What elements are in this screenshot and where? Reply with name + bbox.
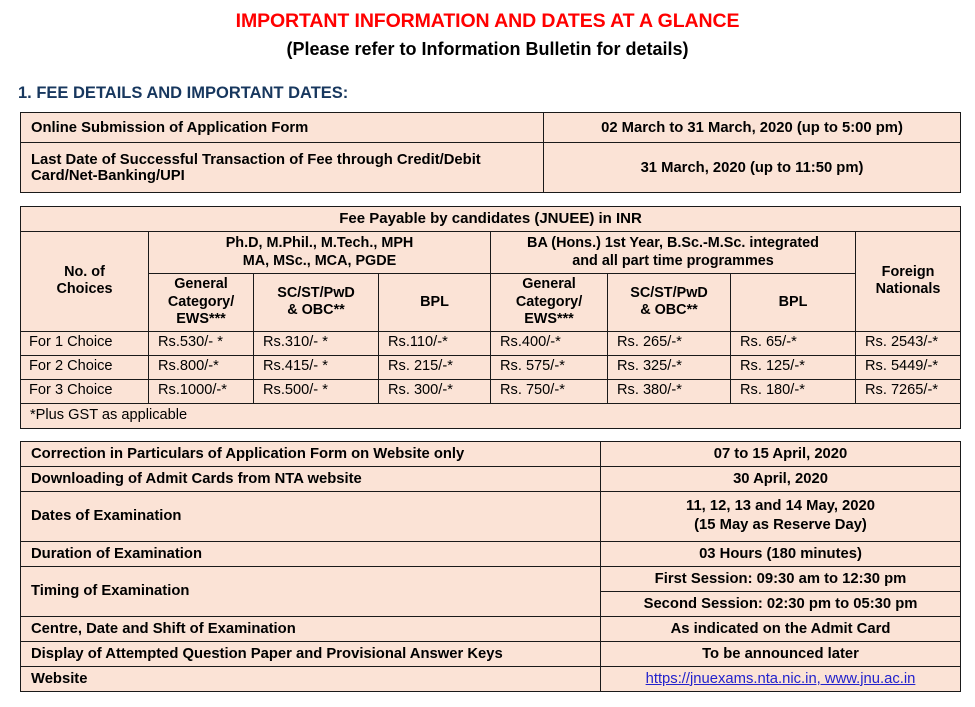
fee-row-choice-1-label: For 1 Choice bbox=[21, 331, 149, 355]
subheader-ug-scst: SC/ST/PwD & OBC** bbox=[608, 274, 731, 332]
fee-row-2-ug-bpl: Rs. 125/-* bbox=[731, 355, 856, 379]
subheader-pg-bpl: BPL bbox=[379, 274, 491, 332]
schedule-value-website: https://jnuexams.nta.nic.in, www.jnu.ac.… bbox=[601, 666, 961, 691]
table-row: Website https://jnuexams.nta.nic.in, www… bbox=[21, 666, 961, 691]
header-foreign-nationals-line2: Nationals bbox=[876, 281, 941, 297]
website-link[interactable]: https://jnuexams.nta.nic.in, www.jnu.ac.… bbox=[646, 671, 916, 687]
fee-row-1-pg-general: Rs.530/- * bbox=[149, 331, 254, 355]
table-row: Downloading of Admit Cards from NTA webs… bbox=[21, 466, 961, 491]
fee-row-1-ug-scst: Rs. 265/-* bbox=[608, 331, 731, 355]
subheader-general-line3: EWS*** bbox=[176, 311, 226, 327]
subheader-scst-line2: & OBC** bbox=[287, 302, 345, 318]
document-page: IMPORTANT INFORMATION AND DATES AT A GLA… bbox=[0, 0, 975, 707]
subheader-general-line1: General bbox=[522, 276, 576, 292]
table-row: Last Date of Successful Transaction of F… bbox=[21, 143, 961, 193]
header-group-pg: Ph.D, M.Phil., M.Tech., MPH MA, MSc., MC… bbox=[149, 232, 491, 274]
schedule-value-exam-dates: 11, 12, 13 and 14 May, 2020 (15 May as R… bbox=[601, 491, 961, 541]
schedule-value-correction: 07 to 15 April, 2020 bbox=[601, 441, 961, 466]
subheader-pg-scst: SC/ST/PwD & OBC** bbox=[254, 274, 379, 332]
fee-row-2-pg-general: Rs.800/-* bbox=[149, 355, 254, 379]
header-no-of-choices-line2: Choices bbox=[57, 281, 113, 297]
schedule-label-exam-dates: Dates of Examination bbox=[21, 491, 601, 541]
page-subtitle: (Please refer to Information Bulletin fo… bbox=[0, 32, 975, 60]
table-row: Display of Attempted Question Paper and … bbox=[21, 641, 961, 666]
table-row: Centre, Date and Shift of Examination As… bbox=[21, 616, 961, 641]
exam-dates-line1: 11, 12, 13 and 14 May, 2020 bbox=[686, 498, 875, 514]
header-foreign-nationals-line1: Foreign bbox=[882, 264, 935, 280]
table-exam-schedule: Correction in Particulars of Application… bbox=[20, 441, 961, 692]
fee-row-2-pg-bpl: Rs. 215/-* bbox=[379, 355, 491, 379]
schedule-label-website: Website bbox=[21, 666, 601, 691]
subheader-ug-bpl: BPL bbox=[731, 274, 856, 332]
header-group-pg-line2: MA, MSc., MCA, PGDE bbox=[243, 253, 397, 269]
table-row: Duration of Examination 03 Hours (180 mi… bbox=[21, 541, 961, 566]
fee-row-2-ug-scst: Rs. 325/-* bbox=[608, 355, 731, 379]
schedule-label-centre-shift: Centre, Date and Shift of Examination bbox=[21, 616, 601, 641]
subheader-ug-general: General Category/ EWS*** bbox=[491, 274, 608, 332]
fee-group-header-row: No. of Choices Ph.D, M.Phil., M.Tech., M… bbox=[21, 232, 961, 274]
table-row: For 2 Choice Rs.800/-* Rs.415/- * Rs. 21… bbox=[21, 355, 961, 379]
fee-row-3-ug-bpl: Rs. 180/-* bbox=[731, 379, 856, 403]
subheader-general-line2: Category/ bbox=[516, 294, 582, 310]
header-no-of-choices: No. of Choices bbox=[21, 232, 149, 332]
fee-row-choice-2-label: For 2 Choice bbox=[21, 355, 149, 379]
header-no-of-choices-line1: No. of bbox=[64, 264, 105, 280]
fee-row-3-ug-scst: Rs. 380/-* bbox=[608, 379, 731, 403]
schedule-value-admit-card: 30 April, 2020 bbox=[601, 466, 961, 491]
table-row: Online Submission of Application Form 02… bbox=[21, 113, 961, 143]
row-value-last-date-fee: 31 March, 2020 (up to 11:50 pm) bbox=[544, 143, 961, 193]
header-group-ug-line2: and all part time programmes bbox=[572, 253, 774, 269]
schedule-label-admit-card: Downloading of Admit Cards from NTA webs… bbox=[21, 466, 601, 491]
schedule-value-answer-keys: To be announced later bbox=[601, 641, 961, 666]
table-row: For 1 Choice Rs.530/- * Rs.310/- * Rs.11… bbox=[21, 331, 961, 355]
table-row: Timing of Examination First Session: 09:… bbox=[21, 566, 961, 591]
schedule-label-duration: Duration of Examination bbox=[21, 541, 601, 566]
fee-row-3-pg-scst: Rs.500/- * bbox=[254, 379, 379, 403]
fee-row-3-foreign: Rs. 7265/-* bbox=[856, 379, 961, 403]
subheader-scst-line1: SC/ST/PwD bbox=[630, 285, 708, 301]
fee-row-1-ug-bpl: Rs. 65/-* bbox=[731, 331, 856, 355]
fee-row-2-ug-general: Rs. 575/-* bbox=[491, 355, 608, 379]
fee-row-choice-3-label: For 3 Choice bbox=[21, 379, 149, 403]
subheader-scst-line2: & OBC** bbox=[640, 302, 698, 318]
schedule-label-timing: Timing of Examination bbox=[21, 566, 601, 616]
fee-row-1-pg-scst: Rs.310/- * bbox=[254, 331, 379, 355]
header-group-pg-line1: Ph.D, M.Phil., M.Tech., MPH bbox=[226, 235, 414, 251]
fee-row-2-foreign: Rs. 5449/-* bbox=[856, 355, 961, 379]
fee-row-1-pg-bpl: Rs.110/-* bbox=[379, 331, 491, 355]
table-fee-payable: Fee Payable by candidates (JNUEE) in INR… bbox=[20, 206, 961, 429]
table-application-dates: Online Submission of Application Form 02… bbox=[20, 112, 961, 193]
header-group-ug-line1: BA (Hons.) 1st Year, B.Sc.-M.Sc. integra… bbox=[527, 235, 819, 251]
header-group-ug: BA (Hons.) 1st Year, B.Sc.-M.Sc. integra… bbox=[491, 232, 856, 274]
fee-row-1-foreign: Rs. 2543/-* bbox=[856, 331, 961, 355]
row-label-online-submission: Online Submission of Application Form bbox=[21, 113, 544, 143]
subheader-pg-general: General Category/ EWS*** bbox=[149, 274, 254, 332]
table-row: Correction in Particulars of Application… bbox=[21, 441, 961, 466]
row-label-last-date-fee: Last Date of Successful Transaction of F… bbox=[21, 143, 544, 193]
fee-banner-row: Fee Payable by candidates (JNUEE) in INR bbox=[21, 207, 961, 232]
fee-banner: Fee Payable by candidates (JNUEE) in INR bbox=[21, 207, 961, 232]
subheader-general-line1: General bbox=[174, 276, 228, 292]
exam-dates-line2: (15 May as Reserve Day) bbox=[694, 517, 867, 533]
schedule-label-correction: Correction in Particulars of Application… bbox=[21, 441, 601, 466]
header-foreign-nationals: Foreign Nationals bbox=[856, 232, 961, 332]
fee-footnote-gst: *Plus GST as applicable bbox=[21, 403, 961, 428]
schedule-value-centre-shift: As indicated on the Admit Card bbox=[601, 616, 961, 641]
subheader-scst-line1: SC/ST/PwD bbox=[277, 285, 355, 301]
fee-row-1-ug-general: Rs.400/-* bbox=[491, 331, 608, 355]
schedule-label-answer-keys: Display of Attempted Question Paper and … bbox=[21, 641, 601, 666]
fee-row-3-ug-general: Rs. 750/-* bbox=[491, 379, 608, 403]
section-heading-fee-details: 1. FEE DETAILS AND IMPORTANT DATES: bbox=[18, 84, 975, 103]
schedule-value-first-session: First Session: 09:30 am to 12:30 pm bbox=[601, 566, 961, 591]
fee-row-3-pg-bpl: Rs. 300/-* bbox=[379, 379, 491, 403]
subheader-general-line2: Category/ bbox=[168, 294, 234, 310]
fee-row-2-pg-scst: Rs.415/- * bbox=[254, 355, 379, 379]
subheader-general-line3: EWS*** bbox=[524, 311, 574, 327]
schedule-value-duration: 03 Hours (180 minutes) bbox=[601, 541, 961, 566]
row-value-online-submission: 02 March to 31 March, 2020 (up to 5:00 p… bbox=[544, 113, 961, 143]
page-title: IMPORTANT INFORMATION AND DATES AT A GLA… bbox=[0, 0, 975, 32]
fee-row-3-pg-general: Rs.1000/-* bbox=[149, 379, 254, 403]
fee-footnote-row: *Plus GST as applicable bbox=[21, 403, 961, 428]
schedule-value-second-session: Second Session: 02:30 pm to 05:30 pm bbox=[601, 591, 961, 616]
fee-subheader-row: General Category/ EWS*** SC/ST/PwD & OBC… bbox=[21, 274, 961, 332]
table-row: For 3 Choice Rs.1000/-* Rs.500/- * Rs. 3… bbox=[21, 379, 961, 403]
table-row: Dates of Examination 11, 12, 13 and 14 M… bbox=[21, 491, 961, 541]
